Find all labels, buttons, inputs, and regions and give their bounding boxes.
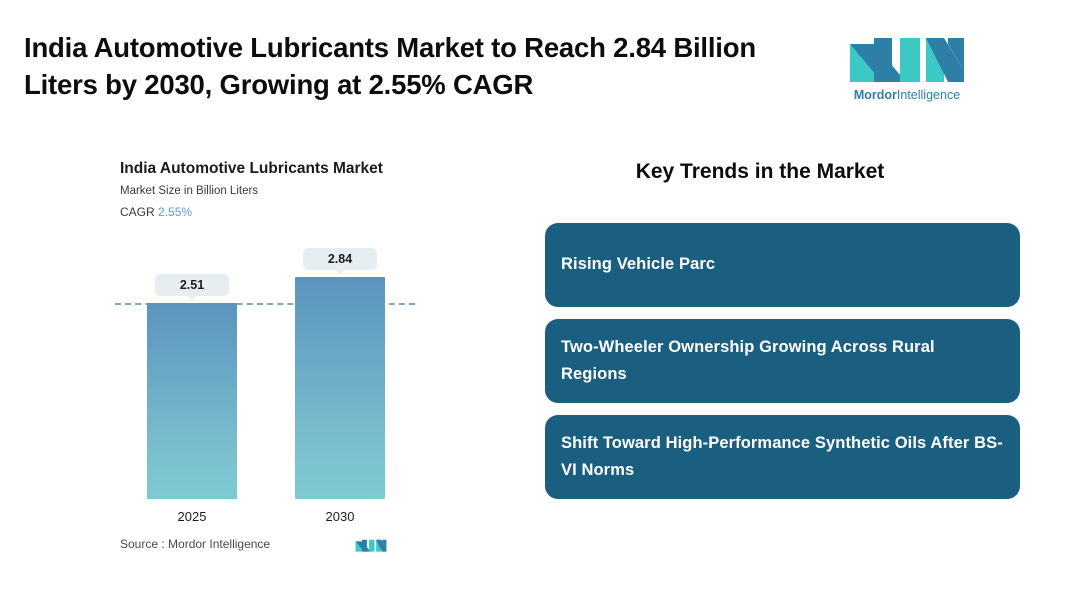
source-row: Source : Mordor Intelligence bbox=[120, 535, 420, 557]
key-trends-panel: Key Trends in the Market Rising Vehicle … bbox=[500, 130, 1081, 606]
bar-chart-plot: 2.51 2.84 2025 2030 bbox=[0, 130, 500, 570]
bar-value-label-2030: 2.84 bbox=[303, 248, 377, 270]
trend-card-3-text: Shift Toward High-Performance Synthetic … bbox=[561, 430, 1004, 484]
brand-name-light: Intelligence bbox=[897, 88, 960, 102]
trend-card-3[interactable]: Shift Toward High-Performance Synthetic … bbox=[545, 415, 1020, 499]
bar-value-label-2025: 2.51 bbox=[155, 274, 229, 296]
x-axis-tick-2030: 2030 bbox=[295, 509, 385, 524]
key-trends-heading: Key Trends in the Market bbox=[500, 160, 1020, 184]
brand-logo: MordorIntelligence bbox=[848, 30, 966, 108]
mordor-m-logo-icon bbox=[848, 30, 966, 85]
trend-card-2[interactable]: Two-Wheeler Ownership Growing Across Rur… bbox=[545, 319, 1020, 403]
trend-card-2-text: Two-Wheeler Ownership Growing Across Rur… bbox=[561, 334, 1004, 388]
source-label: Source : bbox=[120, 537, 165, 551]
brand-wordmark: MordorIntelligence bbox=[848, 88, 966, 102]
trend-card-1-text: Rising Vehicle Parc bbox=[561, 251, 715, 278]
mordor-m-logo-icon bbox=[355, 535, 387, 555]
source-text: Source : Mordor Intelligence bbox=[120, 537, 270, 551]
bar-2025[interactable] bbox=[147, 303, 237, 499]
page-header: India Automotive Lubricants Market to Re… bbox=[0, 0, 1081, 130]
key-trends-list: Rising Vehicle Parc Two-Wheeler Ownershi… bbox=[545, 223, 1020, 511]
brand-name-bold: Mordor bbox=[854, 88, 897, 102]
source-name: Mordor Intelligence bbox=[168, 537, 270, 551]
page-title: India Automotive Lubricants Market to Re… bbox=[24, 30, 824, 103]
chart-panel: India Automotive Lubricants Market Marke… bbox=[0, 130, 500, 606]
bar-2030[interactable] bbox=[295, 277, 385, 499]
x-axis-tick-2025: 2025 bbox=[147, 509, 237, 524]
trend-card-1[interactable]: Rising Vehicle Parc bbox=[545, 223, 1020, 307]
